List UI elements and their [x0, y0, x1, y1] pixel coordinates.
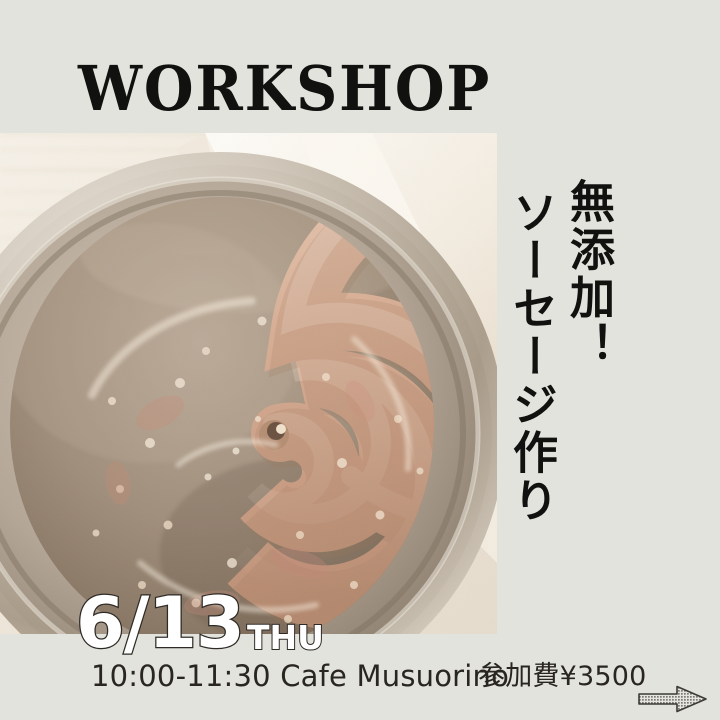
- vertical-headline-sausage-making: ソーセージ作り: [505, 189, 557, 525]
- hero-photo: [0, 133, 497, 634]
- event-weekday: THU: [247, 621, 324, 654]
- page-title: WORKSHOP: [78, 58, 491, 120]
- arrow-right-icon[interactable]: [636, 684, 710, 714]
- event-price: 参加費¥3500: [478, 663, 647, 690]
- vertical-headline-additive-free: 無添加！: [562, 178, 614, 370]
- event-date: 6/13: [76, 588, 244, 658]
- workshop-poster: WORKSHOP: [0, 0, 720, 720]
- event-time-and-venue: 10:00-11:30 Cafe Musuorino: [91, 662, 509, 691]
